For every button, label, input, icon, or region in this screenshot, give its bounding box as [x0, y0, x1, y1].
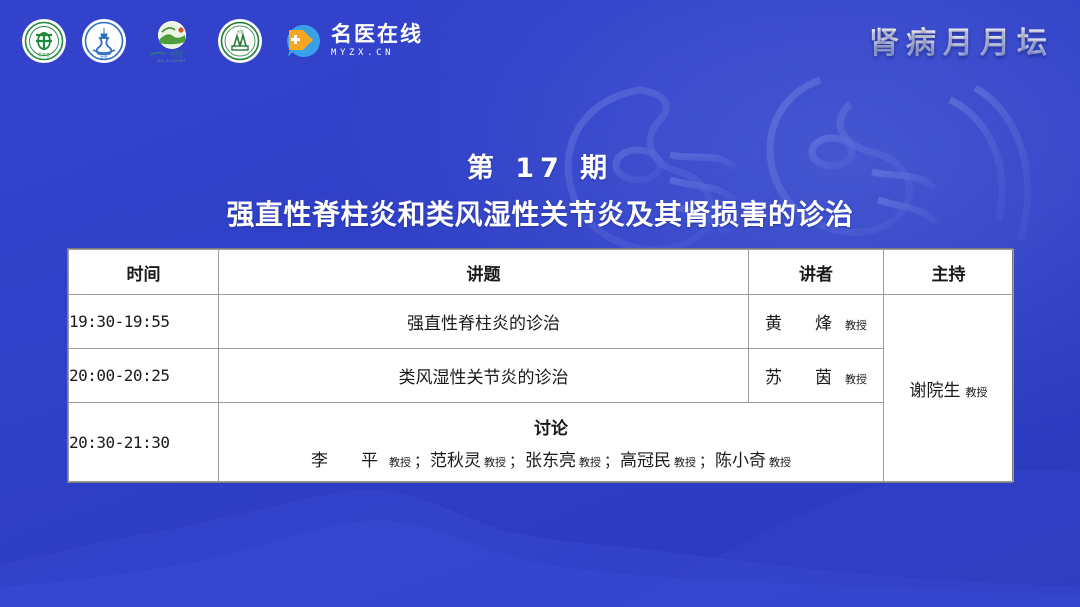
speaker-rank-1: 教授: [845, 319, 867, 332]
discussion-participant-rank: 教授: [484, 456, 506, 469]
cell-topic-1: 强直性脊柱炎的诊治: [219, 295, 749, 349]
cell-discussion: 讨论 李 平教授；范秋灵教授；张东亮教授；高冠民教授；陈小奇教授: [219, 403, 884, 482]
discussion-participant-name: 范秋灵: [430, 451, 481, 471]
host-name: 谢院生: [910, 381, 961, 401]
discussion-participant-name: 高冠民: [620, 451, 671, 471]
brand-title: 肾病月月坛: [869, 18, 1054, 62]
table-row: 20:00-20:25 类风湿性关节炎的诊治 苏 茵教授: [69, 349, 1014, 403]
discussion-label: 讨论: [219, 414, 883, 439]
slide-header: 医学会 医院: [0, 0, 1080, 82]
discussion-participant-rank: 教授: [674, 456, 696, 469]
page-title: 强直性脊柱炎和类风湿性关节炎及其肾损害的诊治: [0, 193, 1080, 233]
participant-separator: ；: [509, 452, 524, 470]
myzx-domain-text: MYZX.CN: [331, 49, 423, 58]
discussion-participant-rank: 教授: [389, 456, 411, 469]
cell-time-3: 20:30-21:30: [69, 403, 219, 482]
institution-logo-2-icon: 医院: [82, 19, 126, 63]
column-header-topic: 讲题: [219, 250, 749, 295]
partner-logo-strip: 医学会 医院: [22, 17, 423, 65]
institution-logo-1-icon: 医学会: [22, 19, 66, 63]
host-rank: 教授: [966, 386, 988, 399]
discussion-participant-rank: 教授: [579, 456, 601, 469]
discussion-participants: 李 平教授；范秋灵教授；张东亮教授；高冠民教授；陈小奇教授: [219, 446, 883, 471]
speaker-rank-2: 教授: [845, 373, 867, 386]
svg-text:医院: 医院: [100, 54, 108, 59]
cell-host: 谢院生教授: [884, 295, 1014, 482]
participant-separator: ；: [414, 452, 429, 470]
column-header-speaker: 讲者: [749, 250, 884, 295]
table-row: 20:30-21:30 讨论 李 平教授；范秋灵教授；张东亮教授；高冠民教授；陈…: [69, 403, 1014, 482]
myzx-wordmark: 名医在线 MYZX.CN: [331, 24, 423, 58]
cell-time-1: 19:30-19:55: [69, 295, 219, 349]
participant-separator: ；: [699, 452, 714, 470]
table-row: 19:30-19:55 强直性脊柱炎的诊治 黄 烽教授 谢院生教授: [69, 295, 1014, 349]
column-header-time: 时间: [69, 250, 219, 295]
column-header-host: 主持: [884, 250, 1014, 295]
slide-root: 医学会 医院: [0, 0, 1080, 607]
speaker-name-1: 黄 烽: [765, 314, 840, 334]
issue-number: 第 17 期: [0, 146, 1080, 185]
svg-text:WU ACADEMY: WU ACADEMY: [158, 59, 186, 63]
institution-logo-3-icon: 书院 WU ACADEMY: [142, 19, 202, 63]
myzx-chinese-name: 名医在线: [331, 24, 423, 45]
agenda-table: 时间 讲题 讲者 主持 19:30-19:55 强直性脊柱炎的诊治 黄 烽教授 …: [68, 249, 1014, 482]
discussion-participant-name: 李 平: [311, 451, 386, 471]
cell-topic-2: 类风湿性关节炎的诊治: [219, 349, 749, 403]
agenda-table-head: 时间 讲题 讲者 主持: [69, 250, 1014, 295]
myzx-play-icon: [284, 21, 324, 61]
institution-logo-4-icon: 大学: [218, 19, 262, 63]
svg-text:书院: 书院: [169, 49, 184, 59]
cell-speaker-2: 苏 茵教授: [749, 349, 884, 403]
speaker-name-2: 苏 茵: [765, 368, 840, 388]
svg-text:医学会: 医学会: [38, 51, 50, 57]
myzx-brand-logo: 名医在线 MYZX.CN: [284, 21, 423, 61]
agenda-panel: 时间 讲题 讲者 主持 19:30-19:55 强直性脊柱炎的诊治 黄 烽教授 …: [67, 248, 1013, 483]
cell-speaker-1: 黄 烽教授: [749, 295, 884, 349]
discussion-participant-name: 张东亮: [525, 451, 576, 471]
discussion-participant-rank: 教授: [769, 456, 791, 469]
agenda-table-body: 19:30-19:55 强直性脊柱炎的诊治 黄 烽教授 谢院生教授 20:00-…: [69, 295, 1014, 482]
svg-text:大学: 大学: [237, 29, 244, 34]
participant-separator: ；: [604, 452, 619, 470]
title-block: 第 17 期 强直性脊柱炎和类风湿性关节炎及其肾损害的诊治: [0, 146, 1080, 233]
table-header-row: 时间 讲题 讲者 主持: [69, 250, 1014, 295]
cell-time-2: 20:00-20:25: [69, 349, 219, 403]
discussion-participant-name: 陈小奇: [715, 451, 766, 471]
